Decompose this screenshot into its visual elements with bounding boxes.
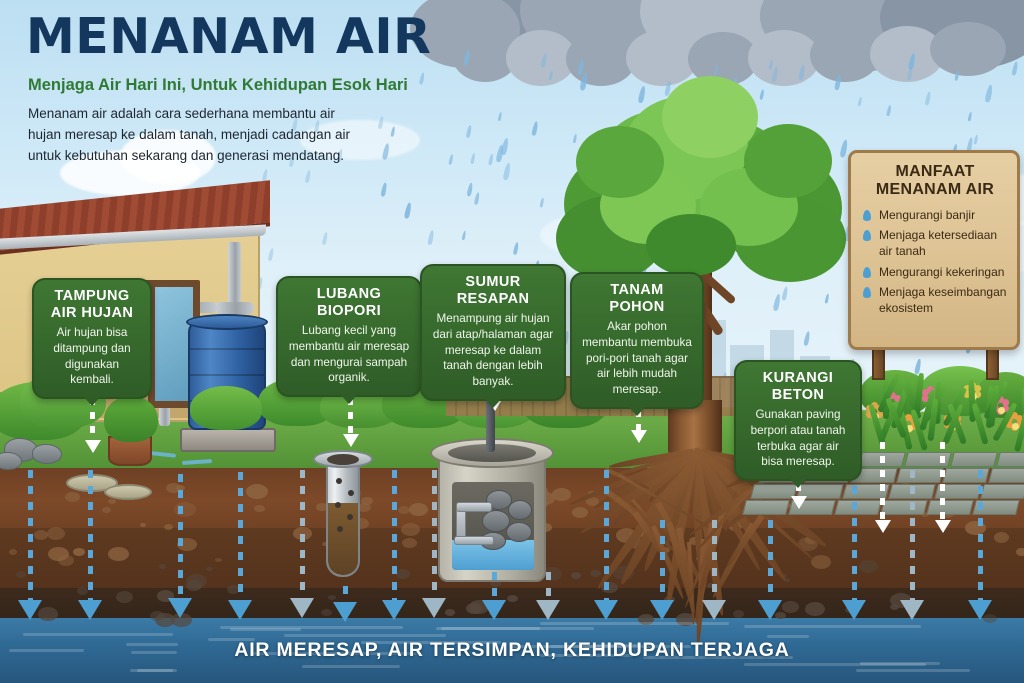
soil-pebble [16,571,26,578]
soil-pebble [572,507,588,518]
soil-pebble [733,610,744,618]
soil-pebble [445,609,455,616]
callout-kurangi-beton[interactable]: KURANGI BETON Gunakan paving berpori ata… [734,360,862,481]
soil-pebble [102,507,111,513]
paving-stone [980,484,1024,499]
soil-pebble [398,506,410,514]
infiltration-dash [546,572,551,600]
callout-title: LUBANG BIOPORI [288,286,410,319]
water-drop-icon [863,267,871,278]
callout-pointer-dash [880,442,885,520]
soil-pebble [186,580,202,591]
callout-body: Air hujan bisa ditampung dan digunakan k… [44,325,140,388]
infiltration-dash [852,470,857,600]
benefit-item: Mengurangi kekeringan [863,265,1007,281]
callout-body: Lubang kecil yang membantu air meresap d… [288,323,410,386]
soil-pebble [164,524,173,530]
water-drop-icon [863,287,871,298]
page-title: MENANAM AIR [26,14,431,61]
down-arrow-icon [875,520,891,533]
callout-title: KURANGI BETON [746,370,850,403]
soil-pebble [108,547,129,561]
callout-title-line2: AIR HUJAN [51,305,134,321]
soil-pebble [34,530,48,540]
down-arrow-icon [536,600,560,620]
paving-stone [926,500,974,515]
down-arrow-icon [758,600,782,620]
infiltration-dash [238,472,243,600]
benefit-item: Menjaga keseimbangan ekosistem [863,285,1007,316]
board-title-line2: MENANAM AIR [876,181,994,198]
infiltration-dash [660,520,665,600]
footer-banner: AIR MERESAP, AIR TERSIMPAN, KEHIDUPAN TE… [0,630,1024,670]
soil-pebble [328,595,336,600]
down-arrow-icon [968,600,992,620]
infiltration-dash [604,470,609,600]
soil-pebble [1016,548,1024,556]
callout-body: Menampung air hujan dari atap/halaman ag… [432,311,554,389]
down-arrow-icon [900,600,924,620]
paving-stone [950,452,998,467]
soil-pebble [108,499,116,504]
soil-pebble [9,549,17,555]
infiltration-dash [343,586,348,602]
down-arrow-icon [228,600,252,620]
down-arrow-icon [842,600,866,620]
callout-sumur-resapan[interactable]: SUMUR RESAPAN Menampung air hujan dari a… [420,264,566,401]
down-arrow-icon [702,600,726,620]
paving-stone [742,500,790,515]
down-arrow-icon [650,600,674,620]
callout-body: Gunakan paving berpori atau tanah terbuk… [746,407,850,470]
down-arrow-icon [791,496,807,509]
soil-pebble [77,587,88,595]
rock-icon [32,444,62,464]
down-arrow-icon [18,600,42,620]
callout-tampung-air-hujan[interactable]: TAMPUNGAIR HUJAN Air hujan bisa ditampun… [32,278,152,399]
infiltration-dash [88,470,93,600]
water-wave [744,625,921,628]
paving-stone [834,500,882,515]
soil-pebble [402,538,417,548]
infiltration-dash [300,470,305,598]
down-arrow-icon [333,602,357,622]
paving-stone [996,452,1024,467]
soil-pebble [65,492,80,502]
down-arrow-icon [85,440,101,453]
infographic-poster: MENANAM AIR Menjaga Air Hari Ini, Untuk … [0,0,1024,683]
paving-stone [896,468,944,483]
soil-pebble [552,488,571,501]
infiltration-dash [978,470,983,600]
soil-pebble [254,505,265,512]
benefit-label: Menjaga keseimbangan ekosistem [879,285,1006,315]
down-arrow-icon [422,598,446,618]
soil-pebble [409,503,428,516]
down-arrow-icon [290,598,314,618]
benefit-item: Mengurangi banjir [863,208,1007,224]
soil-pebble [782,601,799,613]
bush-icon [190,386,262,430]
down-arrow-icon [482,600,506,620]
infiltration-dash [492,572,497,600]
board-title-line1: MANFAAT [895,163,974,180]
soil-pebble [159,564,166,569]
down-arrow-icon [935,520,951,533]
benefit-item: Menjaga ketersediaan air tanah [863,228,1007,259]
down-arrow-icon [631,430,647,443]
stepping-stone [104,484,152,500]
callout-tail [340,394,358,404]
callout-tail [83,396,101,406]
soil-pebble [58,555,74,566]
callout-title-line1: TAMPUNG [54,288,129,304]
benefit-label: Mengurangi kekeringan [879,265,1004,279]
soil-pebble [206,567,213,571]
soil-pebble [396,569,410,579]
soil-pebble [859,560,878,573]
soil-pebble [116,591,133,603]
callout-tail [484,398,502,408]
soil-pebble [994,532,1009,543]
callout-tail [628,406,646,416]
infiltration-dash [178,474,183,598]
water-drop-icon [863,210,871,221]
benefits-board: MANFAAT MENANAM AIR Mengurangi banjir Me… [848,150,1020,350]
infiltration-dash [392,470,397,600]
soil-pebble [507,595,518,602]
benefits-list: Mengurangi banjir Menjaga ketersediaan a… [863,208,1007,317]
page-intro: Menanam air adalah cara sederhana memban… [28,104,358,167]
water-wave [220,626,403,629]
soil-pebble [73,548,85,556]
callout-tail [789,478,807,488]
callout-title: TANAM POHON [582,282,692,315]
soil-pebble [321,609,332,616]
infiltration-dash [712,520,717,600]
soil-pebble [246,484,268,499]
page-subtitle: Menjaga Air Hari Ini, Untuk Kehidupan Es… [28,76,408,95]
soil-pebble [590,570,601,577]
infiltration-dash [432,470,437,598]
benefit-label: Mengurangi banjir [879,208,975,222]
soil-pebble [47,527,65,540]
down-arrow-icon [78,600,102,620]
callout-pointer-dash [940,442,945,520]
infiltration-dash [768,520,773,600]
soil-pebble [890,604,899,610]
paving-stone [988,468,1024,483]
water-drop-icon [863,230,871,241]
potted-plant-icon [104,396,158,442]
down-arrow-icon [343,434,359,447]
paving-stone [880,500,928,515]
down-arrow-icon [168,598,192,618]
callout-lubang-biopori[interactable]: LUBANG BIOPORI Lubang kecil yang membant… [276,276,422,397]
soil-pebble [215,558,222,562]
soil-pebble [401,523,420,536]
benefit-label: Menjaga ketersediaan air tanah [879,228,997,258]
callout-title: SUMUR RESAPAN [432,274,554,307]
down-arrow-icon [594,600,618,620]
down-arrow-icon [382,600,406,620]
callout-tanam-pohon[interactable]: TANAM POHON Akar pohon membantu membuka … [570,272,704,409]
infiltration-dash [910,470,915,600]
soil-pebble [805,602,825,616]
callout-body: Akar pohon membantu membuka pori-pori ta… [582,319,692,397]
soil-pebble [140,523,146,527]
soil-pebble [811,555,831,569]
infiltration-dash [28,470,33,600]
soil-pebble [571,572,581,579]
